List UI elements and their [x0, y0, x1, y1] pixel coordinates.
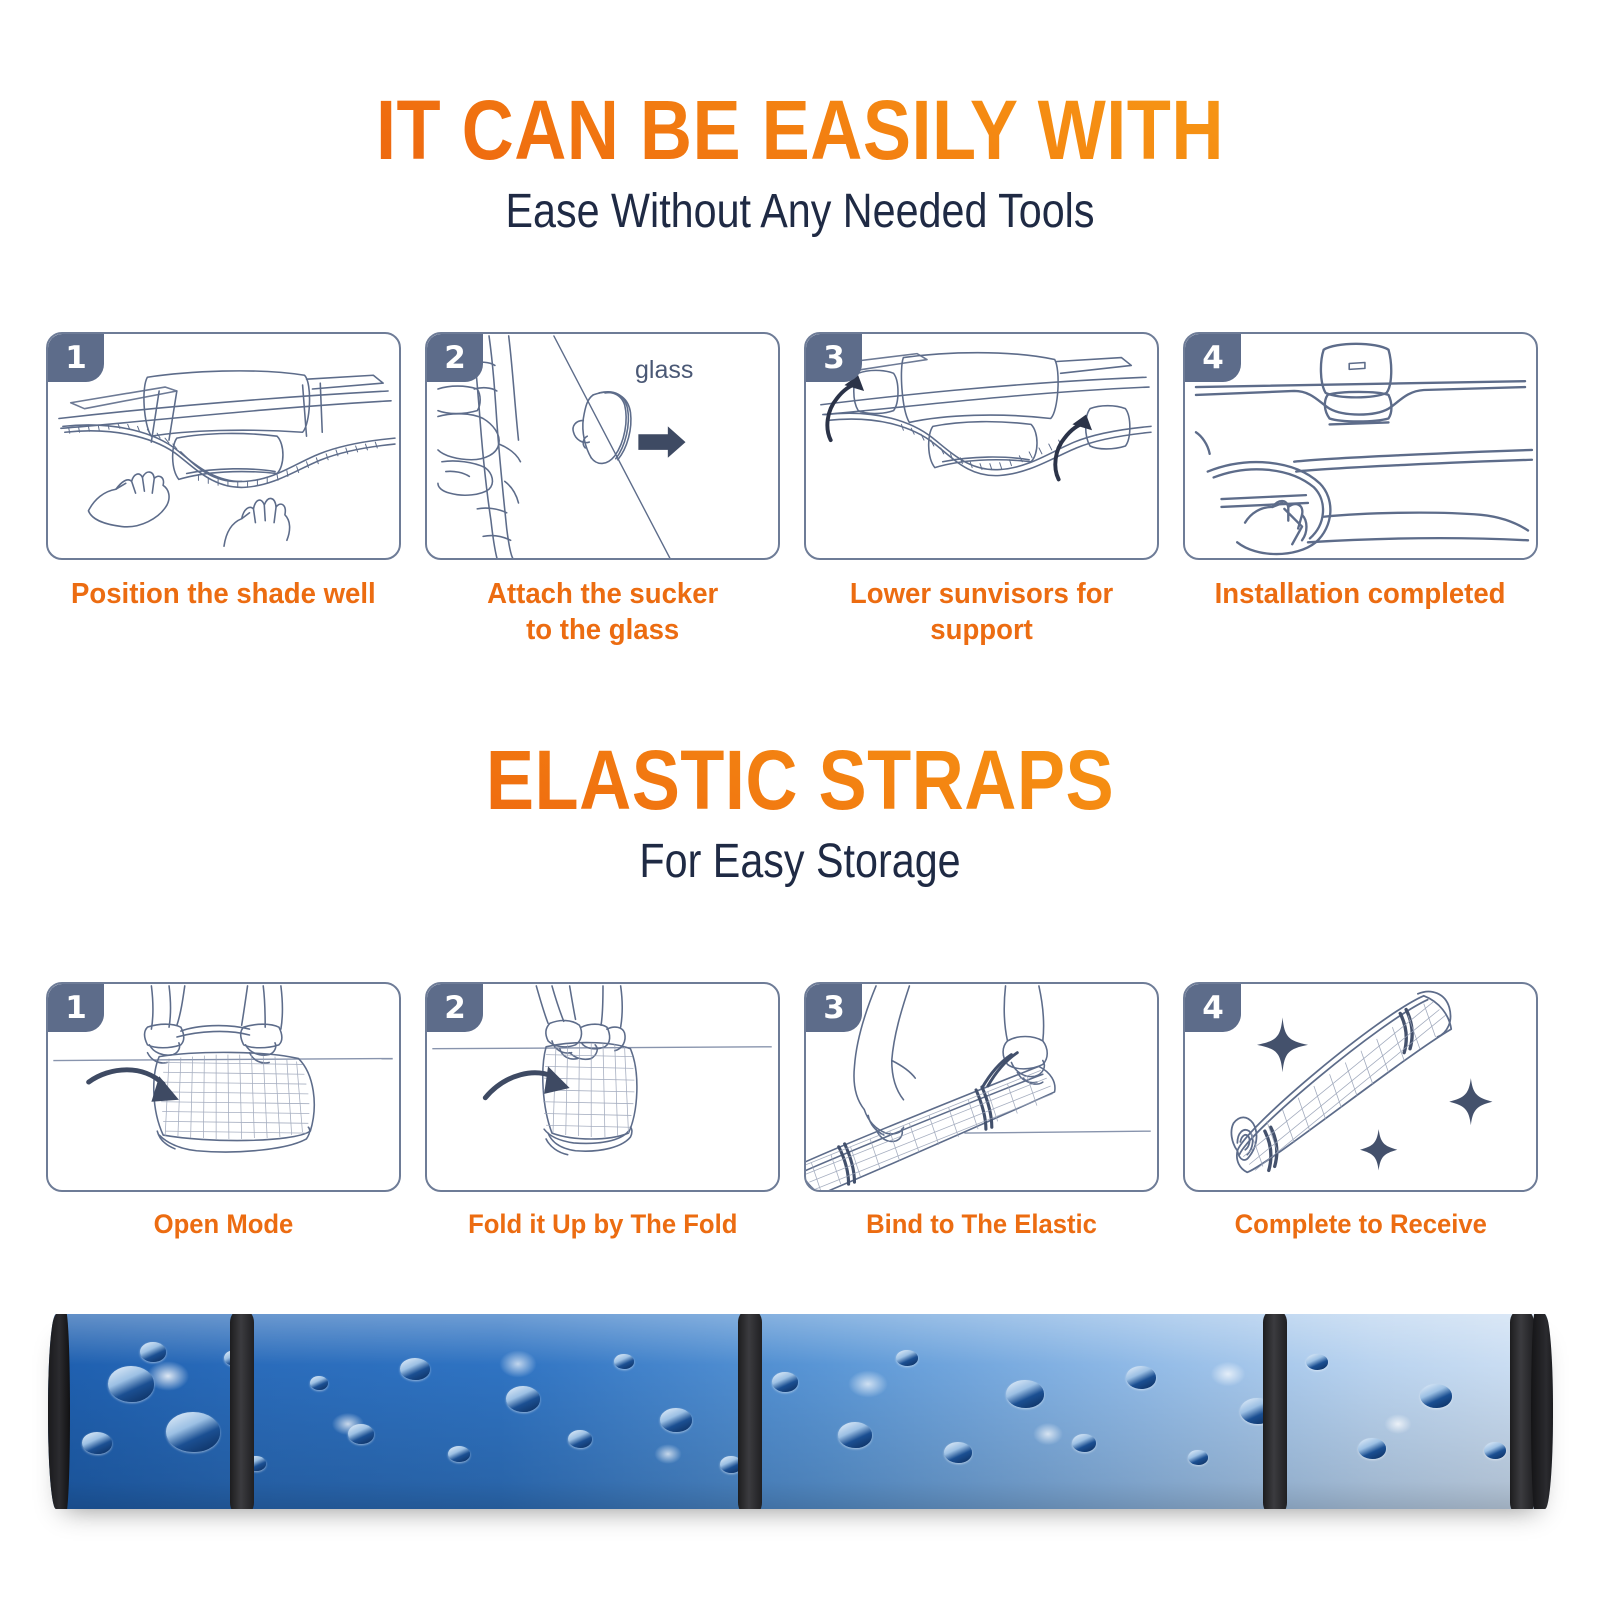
illustration-panel-install-1: 1	[46, 332, 401, 560]
direction-arrow-icon	[638, 426, 685, 457]
storage-subtitle: For Easy Storage	[112, 834, 1488, 889]
storage-steps-row: 1	[46, 982, 1556, 1242]
elastic-strap	[230, 1314, 254, 1509]
installation-subtitle: Ease Without Any Needed Tools	[112, 184, 1488, 239]
step-caption: Attach the sucker to the glass	[487, 576, 718, 649]
glass-annotation-label: glass	[635, 356, 693, 385]
step-card-install-4: 4	[1183, 332, 1538, 649]
illustration-panel-storage-2: 2	[425, 982, 780, 1192]
step-caption: Open Mode	[154, 1208, 294, 1242]
storage-title: ELASTIC STRAPS	[112, 738, 1488, 822]
step-number-badge: 1	[48, 334, 104, 382]
installation-title: IT CAN BE EASILY WITH	[112, 88, 1488, 172]
illustration-panel-install-2: 2 glass	[425, 332, 780, 560]
illustration-panel-install-4: 4	[1183, 332, 1538, 560]
infographic-page: IT CAN BE EASILY WITH Ease Without Any N…	[0, 0, 1600, 1600]
roll-end-cap-left	[48, 1314, 70, 1509]
roll-end-cap-right	[1531, 1314, 1553, 1509]
rolled-sunshade-body	[48, 1314, 1553, 1509]
illustration-panel-storage-3: 3	[804, 982, 1159, 1192]
step-card-storage-1: 1	[46, 982, 401, 1242]
step-card-storage-3: 3	[804, 982, 1159, 1242]
step-card-install-2: 2 glass	[425, 332, 780, 649]
step-caption: Lower sunvisors for support	[850, 576, 1113, 649]
storage-section-header: ELASTIC STRAPS For Easy Storage	[0, 738, 1600, 889]
step-caption: Fold it Up by The Fold	[468, 1208, 737, 1242]
step-number-badge: 2	[427, 334, 483, 382]
step-number-badge: 3	[806, 334, 862, 382]
sparkle-icons	[1257, 1017, 1492, 1170]
step-number-badge: 1	[48, 984, 104, 1032]
step-card-storage-2: 2	[425, 982, 780, 1242]
step-number-badge: 4	[1185, 334, 1241, 382]
step-card-storage-4: 4	[1183, 982, 1538, 1242]
illustration-panel-storage-1: 1	[46, 982, 401, 1192]
step-number-badge: 2	[427, 984, 483, 1032]
product-photo-rolled-sunshade	[0, 1300, 1600, 1560]
step-number-badge: 3	[806, 984, 862, 1032]
step-number-badge: 4	[1185, 984, 1241, 1032]
step-card-install-3: 3	[804, 332, 1159, 649]
step-caption: Complete to Receive	[1234, 1208, 1486, 1242]
illustration-panel-storage-4: 4	[1183, 982, 1538, 1192]
step-caption: Position the shade well	[71, 576, 376, 612]
elastic-strap	[1263, 1314, 1287, 1509]
step-card-install-1: 1	[46, 332, 401, 649]
installation-section-header: IT CAN BE EASILY WITH Ease Without Any N…	[0, 88, 1600, 239]
step-caption: Installation completed	[1215, 576, 1506, 612]
installation-steps-row: 1	[46, 332, 1556, 649]
illustration-panel-install-3: 3	[804, 332, 1159, 560]
elastic-strap	[738, 1314, 762, 1509]
step-caption: Bind to The Elastic	[866, 1208, 1097, 1242]
